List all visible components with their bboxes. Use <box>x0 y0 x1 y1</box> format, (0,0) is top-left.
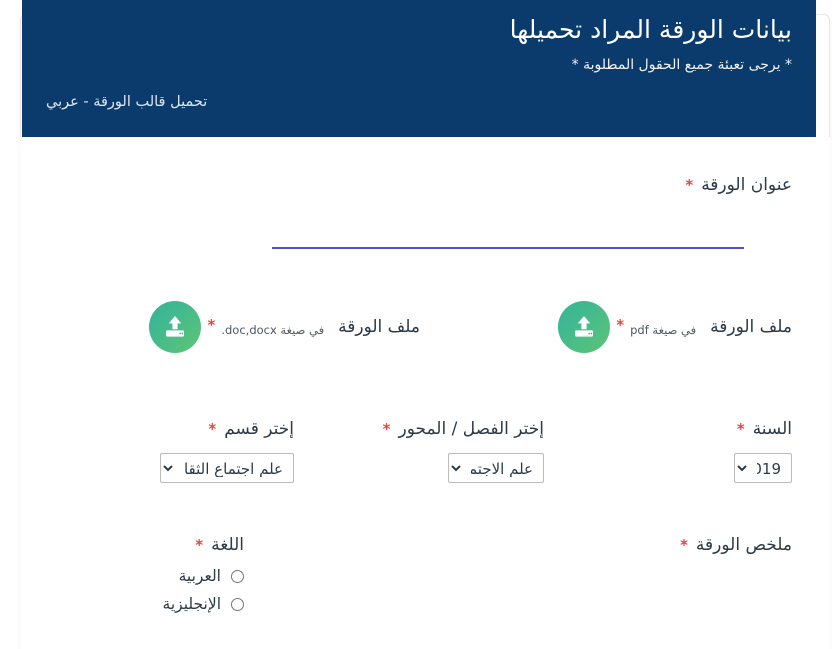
upload-pdf-group: ملف الورقة في صيغة pdf * <box>558 292 792 362</box>
selects-row: السنة* 2019 إختر الفصل / المحور* علم الا… <box>52 419 792 499</box>
axis-label-wrap: إختر الفصل / المحور* <box>383 419 544 439</box>
department-select[interactable]: علم اجتماع الثقافة <box>160 453 294 483</box>
upload-doc-hint: في صيغة doc,docx. <box>221 323 324 337</box>
page-root: بيانات الورقة المراد تحميلها * يرجى تعبئ… <box>0 0 838 649</box>
language-radio-english[interactable] <box>231 598 244 611</box>
upload-doc-group: ملف الورقة في صيغة doc,docx. * <box>149 292 420 362</box>
upload-doc-label: ملف الورقة <box>338 317 420 337</box>
department-label: إختر قسم <box>224 419 294 439</box>
language-field: اللغة* العربية الإنجليزية <box>163 535 244 623</box>
paper-title-field: عنوان الورقة* <box>272 175 792 249</box>
download-template-link[interactable]: تحميل قالب الورقة - عربي <box>46 94 207 110</box>
language-label: اللغة <box>211 535 244 555</box>
page-title: بيانات الورقة المراد تحميلها <box>510 13 792 47</box>
upload-pdf-label: ملف الورقة <box>710 317 792 337</box>
upload-icon <box>161 313 189 341</box>
upload-icon <box>570 313 598 341</box>
language-radio-arabic[interactable] <box>231 570 244 583</box>
page-header: بيانات الورقة المراد تحميلها * يرجى تعبئ… <box>22 0 816 137</box>
year-label: السنة <box>753 419 792 439</box>
bottom-row: ملخص الورقة* اللغة* العربية الإنجليزية <box>52 535 792 645</box>
department-label-wrap: إختر قسم* <box>160 419 294 439</box>
language-option-english[interactable]: الإنجليزية <box>163 595 244 613</box>
required-asterisk: * <box>208 420 216 438</box>
summary-field: ملخص الورقة* <box>680 535 792 555</box>
year-field: السنة* 2019 <box>734 419 792 483</box>
language-radio-english-label[interactable]: الإنجليزية <box>163 595 221 613</box>
required-asterisk: * <box>737 420 745 438</box>
upload-row: ملف الورقة في صيغة pdf * ملف الورقة <box>52 292 792 362</box>
axis-field: إختر الفصل / المحور* علم الاجتماع <box>383 419 544 483</box>
language-radio-arabic-label[interactable]: العربية <box>179 567 221 585</box>
year-label-wrap: السنة* <box>734 419 792 439</box>
language-option-arabic[interactable]: العربية <box>163 567 244 585</box>
axis-label: إختر الفصل / المحور <box>399 419 545 439</box>
upload-doc-button[interactable] <box>149 301 201 353</box>
axis-select[interactable]: علم الاجتماع <box>448 453 544 483</box>
summary-label: ملخص الورقة <box>696 535 792 555</box>
language-label-wrap: اللغة* <box>163 535 244 555</box>
year-select[interactable]: 2019 <box>734 453 792 483</box>
required-asterisk: * <box>207 316 215 334</box>
required-asterisk: * <box>680 536 688 554</box>
required-asterisk: * <box>383 420 391 438</box>
required-asterisk: * <box>195 536 203 554</box>
department-field: إختر قسم* علم اجتماع الثقافة <box>160 419 294 483</box>
page-subtitle: * يرجى تعبئة جميع الحقول المطلوبة * <box>572 57 792 73</box>
required-asterisk: * <box>616 316 624 334</box>
upload-pdf-hint: في صيغة pdf <box>630 323 696 337</box>
required-asterisk: * <box>685 176 693 194</box>
paper-title-input[interactable] <box>272 217 744 249</box>
paper-title-label: عنوان الورقة <box>701 175 792 195</box>
form-body: عنوان الورقة* ملف الورقة في صيغة pdf * <box>20 137 830 649</box>
upload-pdf-button[interactable] <box>558 301 610 353</box>
